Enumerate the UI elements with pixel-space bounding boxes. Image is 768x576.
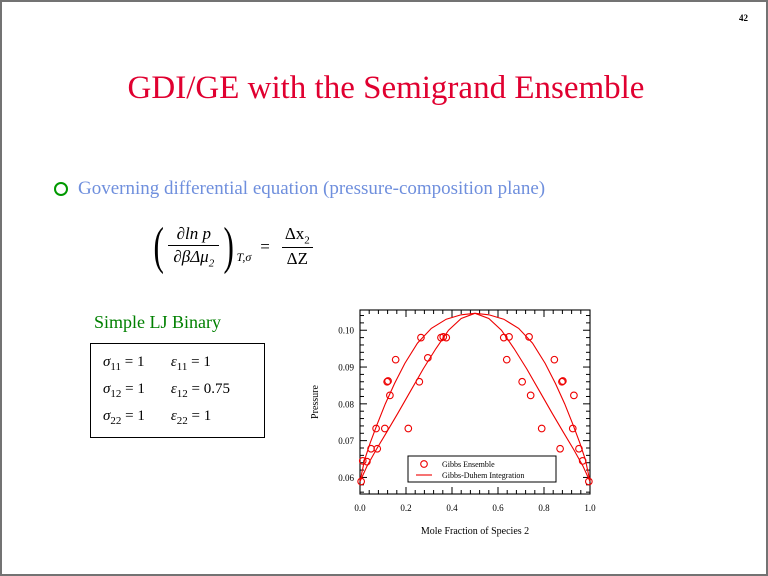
bullet-text: Governing differential equation (pressur… (78, 178, 545, 200)
equation-lhs-denominator: ∂βΔμ2 (168, 245, 219, 269)
data-point (569, 425, 576, 432)
data-point (519, 378, 526, 385)
equation-rhs-denominator: ΔZ (282, 247, 313, 269)
y-tick-label: 0.09 (338, 363, 354, 373)
data-point (527, 392, 534, 399)
equation-rhs-numerator: Δx2 (280, 224, 315, 247)
x-tick-label: 0.2 (400, 503, 411, 513)
x-tick-label: 0.6 (492, 503, 504, 513)
data-point (551, 356, 558, 363)
legend-label: Gibbs Ensemble (442, 460, 495, 469)
page-title: GDI/GE with the Semigrand Ensemble (2, 70, 768, 107)
y-axis-title: Pressure (310, 385, 321, 419)
table-row: σ12 = 1ε12 = 0.75 (103, 377, 230, 404)
data-point (557, 445, 564, 452)
page-number: 42 (739, 13, 748, 23)
y-tick-label: 0.10 (338, 326, 354, 336)
x-tick-label: 0.4 (446, 503, 458, 513)
data-point (392, 356, 399, 363)
data-point (416, 378, 423, 385)
y-tick-label: 0.08 (338, 399, 354, 409)
x-axis-title: Mole Fraction of Species 2 (421, 526, 529, 537)
table-row: σ22 = 1ε22 = 1 (103, 404, 230, 431)
equation-rhs-fraction: Δx2 ΔZ (280, 224, 315, 269)
equation-close-paren: ) (224, 228, 234, 265)
x-tick-label: 0.0 (354, 503, 366, 513)
epsilon-cell: ε11 = 1 (145, 350, 230, 377)
equation-outer-subscript: T,σ (237, 250, 252, 269)
y-tick-label: 0.06 (338, 473, 354, 483)
equation-open-paren: ( (153, 228, 163, 265)
x-tick-label: 0.8 (538, 503, 550, 513)
equation-lhs-numerator: ∂ln p (172, 224, 216, 245)
epsilon-cell: ε22 = 1 (145, 404, 230, 431)
data-point (571, 392, 578, 399)
x-tick-label: 1.0 (584, 503, 596, 513)
sigma-cell: σ22 = 1 (103, 404, 145, 431)
epsilon-cell: ε12 = 0.75 (145, 377, 230, 404)
lj-binary-label: Simple LJ Binary (94, 312, 221, 333)
circle-outline-bullet-icon (54, 182, 68, 196)
data-point (538, 425, 545, 432)
data-point (503, 356, 510, 363)
chart-svg: 0.00.20.40.60.81.00.060.070.080.090.10Mo… (302, 302, 602, 552)
sigma-cell: σ11 = 1 (103, 350, 145, 377)
y-tick-label: 0.07 (338, 436, 354, 446)
pressure-composition-chart: 0.00.20.40.60.81.00.060.070.080.090.10Mo… (302, 302, 602, 552)
sigma-cell: σ12 = 1 (103, 377, 145, 404)
data-point (382, 425, 389, 432)
table-row: σ11 = 1ε11 = 1 (103, 350, 230, 377)
equation-equals-sign: = (260, 237, 270, 257)
presentation-slide: 42 GDI/GE with the Semigrand Ensemble Go… (0, 0, 768, 576)
governing-equation: ( ∂ln p ∂βΔμ2 ) T,σ = Δx2 ΔZ (150, 224, 316, 269)
parameter-table: σ11 = 1ε11 = 1σ12 = 1ε12 = 0.75σ22 = 1ε2… (103, 350, 230, 431)
data-point (405, 425, 412, 432)
equation-lhs-fraction: ∂ln p ∂βΔμ2 (168, 224, 219, 269)
parameter-box: σ11 = 1ε11 = 1σ12 = 1ε12 = 0.75σ22 = 1ε2… (90, 343, 265, 438)
bullet-row: Governing differential equation (pressur… (54, 178, 545, 200)
legend-label: Gibbs-Duhem Integration (442, 471, 524, 480)
